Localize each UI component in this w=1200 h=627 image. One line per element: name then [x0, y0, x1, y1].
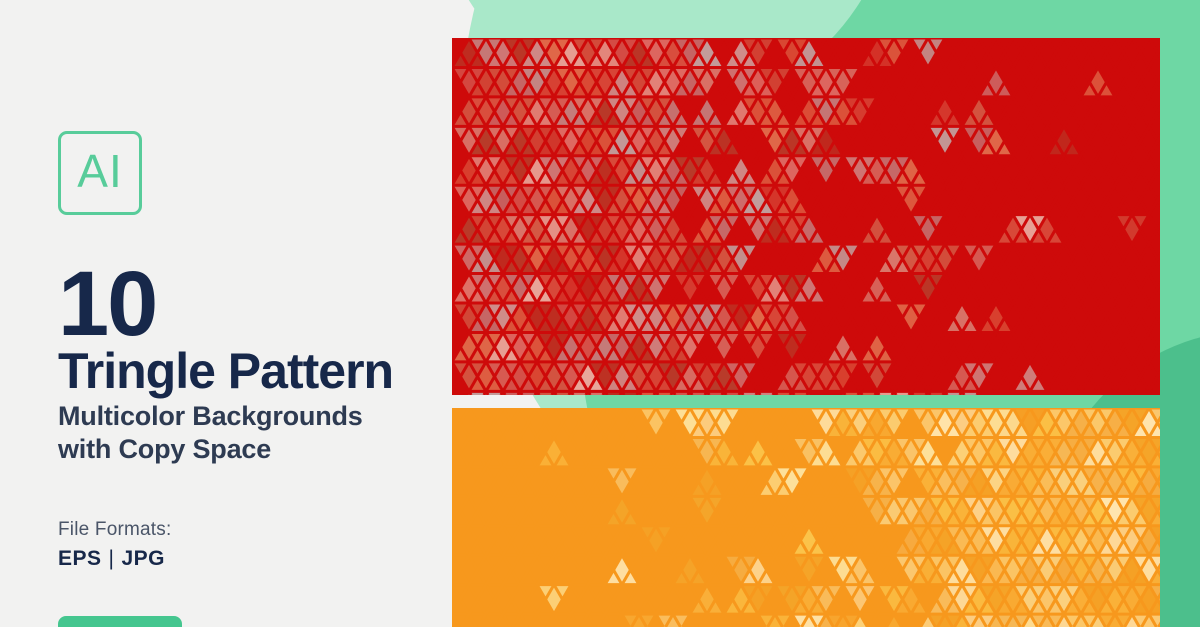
file-formats-block: File Formats: EPS|JPG [58, 517, 171, 572]
pattern-triangle [928, 126, 962, 155]
pattern-triangle [605, 496, 639, 525]
pattern-triangle [1047, 126, 1081, 155]
pattern-triangle [911, 38, 945, 67]
pattern-triangle [690, 467, 724, 496]
pattern-triangle [673, 274, 707, 303]
pattern-triangle [962, 97, 996, 126]
pattern-triangle [741, 332, 775, 361]
page-subtitle-line-2: with Copy Space [58, 433, 363, 466]
pattern-triangle [605, 467, 639, 496]
pattern-triangle [775, 332, 809, 361]
pattern-triangle [860, 274, 894, 303]
poster-canvas: AI 10 Tringle Pattern Multicolor Backgro… [0, 0, 1200, 627]
orange-triangle-pattern-panel [452, 408, 1160, 627]
pattern-triangle [928, 97, 962, 126]
file-format-eps: EPS [58, 547, 102, 570]
adobe-illustrator-badge-label: AI [77, 148, 122, 194]
pattern-triangle [945, 303, 979, 332]
pattern-triangle [826, 332, 860, 361]
adobe-illustrator-badge-icon: AI [58, 131, 142, 215]
file-format-jpg: JPG [122, 547, 166, 570]
pattern-triangle [690, 496, 724, 525]
pattern-triangle [979, 67, 1013, 96]
item-count: 10 [58, 258, 156, 350]
pattern-triangle [894, 303, 928, 332]
file-formats-value: EPS|JPG [58, 545, 171, 572]
pattern-triangle [690, 585, 724, 614]
pattern-triangle [1013, 362, 1047, 391]
left-text-column: AI 10 Tringle Pattern Multicolor Backgro… [0, 0, 452, 627]
red-pattern-svg [452, 38, 1160, 395]
file-formats-separator: | [102, 547, 122, 570]
pattern-triangle [894, 185, 928, 214]
pattern-triangle [860, 362, 894, 391]
pattern-triangle [962, 244, 996, 273]
pattern-triangle [537, 585, 571, 614]
pattern-triangle [911, 274, 945, 303]
page-subtitle: Multicolor Backgrounds with Copy Space [58, 400, 363, 466]
cta-pill-button[interactable] [58, 616, 182, 627]
pattern-triangle [792, 555, 826, 584]
pattern-triangle [690, 97, 724, 126]
pattern-triangle [860, 332, 894, 361]
pattern-triangle [860, 215, 894, 244]
file-formats-label: File Formats: [58, 517, 171, 543]
pattern-triangle [537, 437, 571, 466]
pattern-triangle [911, 215, 945, 244]
pattern-triangle [605, 555, 639, 584]
pattern-triangle [707, 332, 741, 361]
pattern-triangle [809, 156, 843, 185]
pattern-triangle [843, 585, 877, 614]
page-title: Tringle Pattern [58, 345, 393, 398]
pattern-triangle [979, 303, 1013, 332]
red-triangle-pattern-panel [452, 38, 1160, 395]
orange-pattern-svg [452, 408, 1160, 627]
pattern-triangle [792, 526, 826, 555]
pattern-triangle [724, 156, 758, 185]
page-subtitle-line-1: Multicolor Backgrounds [58, 400, 363, 433]
pattern-triangle [1081, 67, 1115, 96]
pattern-triangle [673, 555, 707, 584]
pattern-triangle [707, 274, 741, 303]
pattern-triangle [741, 437, 775, 466]
pattern-triangle [1115, 215, 1149, 244]
pattern-triangle [639, 408, 673, 437]
pattern-triangle [639, 526, 673, 555]
